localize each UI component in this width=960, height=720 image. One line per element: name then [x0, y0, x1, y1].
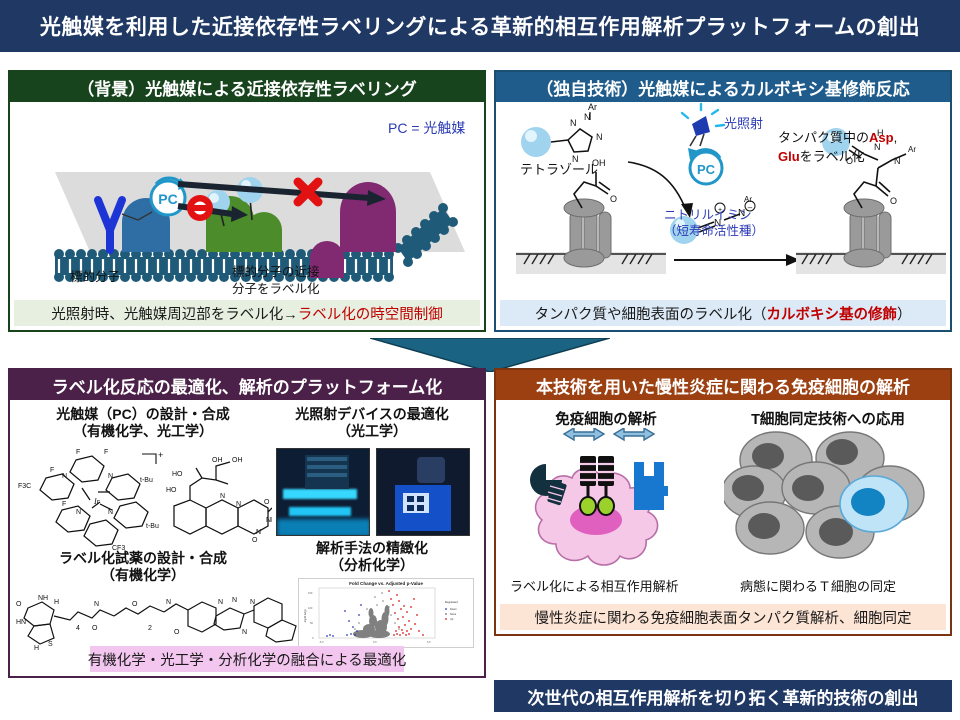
subsection-analysis-line2: （分析化学）: [272, 557, 472, 574]
svg-text:HO: HO: [172, 471, 183, 478]
panel-platform-body: 光触媒（PC）の設計・合成 （有機化学、光工学） 光照射デバイスの最適化 （光工…: [10, 400, 484, 676]
panel-technology-body: OH O N N N N: [496, 102, 950, 330]
svg-text:F: F: [50, 467, 54, 474]
photocatalyst-icon-2: PC: [688, 148, 722, 184]
poster-title-bar: 光触媒を利用した近接依存性ラベリングによる革新的相互作用解析プラットフォームの創…: [0, 0, 960, 52]
led-device-photo-2: [376, 448, 470, 536]
subsection-pc-design-line2: （有機化学、光工学）: [18, 423, 268, 440]
panel-technology-header: （独自技術）光触媒によるカルボキシ基修飾反応: [496, 72, 950, 102]
proximal-molecule-label-1: 標的分子の近接: [232, 265, 320, 281]
svg-text:N: N: [232, 597, 237, 604]
svg-text:100: 100: [308, 606, 313, 610]
svg-text:0.0: 0.0: [373, 640, 377, 644]
subsection-reagent-line2: （有機化学）: [18, 567, 268, 584]
svg-text:N: N: [76, 509, 81, 516]
panel-technology: （独自技術）光触媒によるカルボキシ基修飾反応: [494, 70, 952, 332]
subsection-immune-analysis: 免疫細胞の解析: [506, 408, 706, 429]
svg-text:PC: PC: [697, 162, 716, 177]
caption2-highlight: カルボキシ基の修飾: [767, 303, 898, 324]
panel-application: 本技術を用いた慢性炎症に関わる免疫細胞の解析 免疫細胞の解析 T細胞同定技術への…: [494, 368, 952, 636]
svg-text:N: N: [242, 629, 247, 636]
svg-text:N: N: [570, 118, 577, 128]
nitrilimine-label-1: ニトリルイミン: [664, 208, 752, 224]
membrane-protein-left: [564, 199, 611, 267]
panel-background-body: PC: [10, 102, 484, 330]
svg-text:None: None: [450, 612, 457, 616]
identified-t-cell: [840, 476, 908, 532]
caption-highlight-text: ラベル化の時空間制御: [298, 303, 443, 324]
nitrilimine-label-2: （短寿命活性種）: [664, 224, 764, 240]
svg-text:OH: OH: [212, 457, 223, 464]
led-device-photo-1: [276, 448, 370, 536]
subsection-pc-design: 光触媒（PC）の設計・合成 （有機化学、光工学）: [18, 406, 268, 440]
poster-root: 光触媒を利用した近接依存性ラベリングによる革新的相互作用解析プラットフォームの創…: [0, 0, 960, 720]
light-irradiation-icon: [682, 104, 724, 146]
svg-text:Ar: Ar: [588, 102, 597, 112]
receptor-blue: [634, 462, 668, 510]
panel-background: （背景）光触媒による近接依存性ラベリング: [8, 70, 486, 332]
panel-application-caption: 慢性炎症に関わる免疫細胞表面タンパク質解析、細胞同定: [500, 604, 946, 630]
conclusion-banner: 次世代の相互作用解析を切り拓く革新的技術の創出: [494, 680, 952, 712]
panel-platform: ラベル化反応の最適化、解析のプラットフォーム化 光触媒（PC）の設計・合成 （有…: [8, 368, 486, 678]
panel-background-caption: 光照射時、光触媒周辺部をラベル化→ラベル化の時空間制御: [14, 300, 480, 326]
flow-down-arrow: [370, 338, 610, 372]
subsection-reagent: ラベル化試薬の設計・合成 （有機化学）: [18, 550, 268, 584]
svg-text:NH: NH: [266, 517, 272, 524]
volcano-plot-canvas: -5.0 0.0 5.0 0 50 100 150 Log2 Fold Chan…: [299, 579, 475, 649]
macrophage-illustration: [502, 428, 718, 570]
svg-text:S: S: [48, 641, 53, 648]
svg-text:2: 2: [148, 625, 152, 632]
svg-text:O: O: [132, 601, 138, 608]
svg-text:N: N: [250, 599, 255, 606]
svg-text:N: N: [220, 493, 225, 500]
svg-text:N: N: [166, 599, 171, 606]
label-suffix: をラベル化: [800, 149, 865, 164]
svg-text:N: N: [236, 501, 241, 508]
proximal-molecule-label-2: 分子をラベル化: [232, 282, 320, 298]
svg-text:0: 0: [312, 636, 314, 640]
svg-text:F: F: [76, 449, 80, 456]
t-cell-population-illustration: [724, 428, 940, 570]
membrane-protein-right: [844, 199, 891, 267]
caption2-tail: ）: [897, 303, 912, 324]
receptor-navy: [530, 464, 567, 506]
svg-text:O: O: [174, 629, 180, 636]
svg-text:H: H: [54, 599, 59, 606]
svg-text:-5.0: -5.0: [319, 640, 324, 644]
panel-technology-caption: タンパク質や細胞表面のラベル化（カルボキシ基の修飾）: [500, 300, 946, 326]
svg-text:5.0: 5.0: [427, 640, 431, 644]
svg-text:OH: OH: [232, 457, 243, 464]
target-molecule-label: 標的分子: [70, 270, 120, 286]
volcano-plot: Fold Change vs. Adjusted p-Value: [298, 578, 474, 648]
svg-text:F3C: F3C: [18, 483, 31, 490]
svg-text:F: F: [104, 449, 108, 456]
page-title: 光触媒を利用した近接依存性ラベリングによる革新的相互作用解析プラットフォームの創…: [40, 11, 920, 41]
svg-text:O: O: [610, 194, 617, 204]
svg-text:O: O: [92, 625, 98, 632]
svg-text:NH: NH: [38, 595, 48, 602]
conclusion-banner-text: 次世代の相互作用解析を切り拓く革新的技術の創出: [528, 684, 919, 709]
svg-text:N: N: [108, 509, 113, 516]
svg-text:O: O: [890, 196, 897, 206]
subsection-tcell-application: T細胞同定技術への応用: [718, 408, 938, 429]
pc-legend-label: PC = 光触媒: [388, 120, 465, 138]
svg-text:N: N: [218, 599, 223, 606]
svg-text:HO: HO: [166, 487, 177, 494]
svg-text:O: O: [252, 537, 258, 544]
svg-text:O: O: [264, 499, 270, 506]
subsection-analysis-line1: 解析手法の精緻化: [272, 540, 472, 557]
subsection-reagent-line1: ラベル化試薬の設計・合成: [18, 550, 268, 567]
subsection-analysis: 解析手法の精緻化 （分析化学）: [272, 540, 472, 574]
panel-application-header: 本技術を用いた慢性炎症に関わる免疫細胞の解析: [496, 370, 950, 400]
svg-text:N: N: [94, 601, 99, 608]
protein-label-line1: タンパク質中のAsp,: [778, 130, 897, 146]
subsection-device-line2: （光工学）: [272, 423, 472, 440]
svg-text:N: N: [108, 473, 113, 480]
svg-text:Up: Up: [450, 617, 454, 621]
comma-label: ,: [894, 130, 898, 145]
svg-text:t-Bu: t-Bu: [146, 523, 159, 530]
svg-text:O: O: [16, 601, 22, 608]
svg-text:HN: HN: [16, 619, 26, 626]
tcell-caption: 病態に関わるＴ細胞の同定: [740, 576, 896, 595]
asp-label: Asp: [869, 130, 894, 145]
panel-application-body: 免疫細胞の解析 T細胞同定技術への応用: [496, 400, 950, 634]
svg-text:N: N: [596, 132, 603, 142]
panel-background-header: （背景）光触媒による近接依存性ラベリング: [10, 72, 484, 102]
subsection-device-line1: 光照射デバイスの最適化: [272, 406, 472, 423]
svg-text:H: H: [34, 645, 39, 652]
caption-main-text: 光照射時、光触媒周辺部をラベル化→: [51, 303, 298, 324]
light-irradiation-label: 光照射: [724, 116, 763, 132]
tetrazole-label: テトラゾール: [520, 162, 598, 178]
svg-text:PC: PC: [158, 191, 177, 207]
glu-label: Glu: [778, 149, 800, 164]
panel-platform-header: ラベル化反応の最適化、解析のプラットフォーム化: [10, 370, 484, 400]
svg-text:N: N: [894, 156, 901, 166]
macrophage-caption: ラベル化による相互作用解析: [510, 576, 679, 595]
svg-text:F: F: [62, 501, 66, 508]
svg-text:50: 50: [310, 621, 313, 625]
svg-text:+: +: [158, 450, 163, 460]
labeling-reagent-structure: O NH HN H H S 4 N O O 2 N O N N N N: [14, 590, 304, 652]
svg-text:Down: Down: [450, 607, 457, 611]
protein-label-line2: Gluをラベル化: [778, 149, 865, 165]
photocatalyst-chemical-structures: Ir F F F F3C F CF3 t-Bu t-Bu N N N N +: [16, 448, 272, 558]
subsection-pc-design-line1: 光触媒（PC）の設計・合成: [18, 406, 268, 423]
reaction-arrow: [674, 254, 800, 266]
svg-text:150: 150: [308, 591, 313, 595]
svg-text:Ar: Ar: [908, 145, 916, 154]
svg-text:N: N: [62, 473, 67, 480]
svg-text:Ir: Ir: [93, 497, 101, 506]
interaction-arrow: [564, 428, 654, 440]
svg-text:Regulated: Regulated: [445, 600, 458, 604]
svg-text:t-Bu: t-Bu: [140, 477, 153, 484]
svg-text:4: 4: [76, 625, 80, 632]
panel-platform-caption: 有機化学・光工学・分析化学の融合による最適化: [90, 646, 404, 672]
protein-label-text: タンパク質中の: [778, 130, 869, 145]
svg-text:-log10 Adj p: -log10 Adj p: [303, 609, 307, 623]
caption2-main: タンパク質や細胞表面のラベル化（: [535, 303, 767, 324]
tetrazole-structure: N N N N Ar: [521, 102, 603, 164]
subsection-device: 光照射デバイスの最適化 （光工学）: [272, 406, 472, 440]
svg-text:N: N: [256, 529, 261, 536]
